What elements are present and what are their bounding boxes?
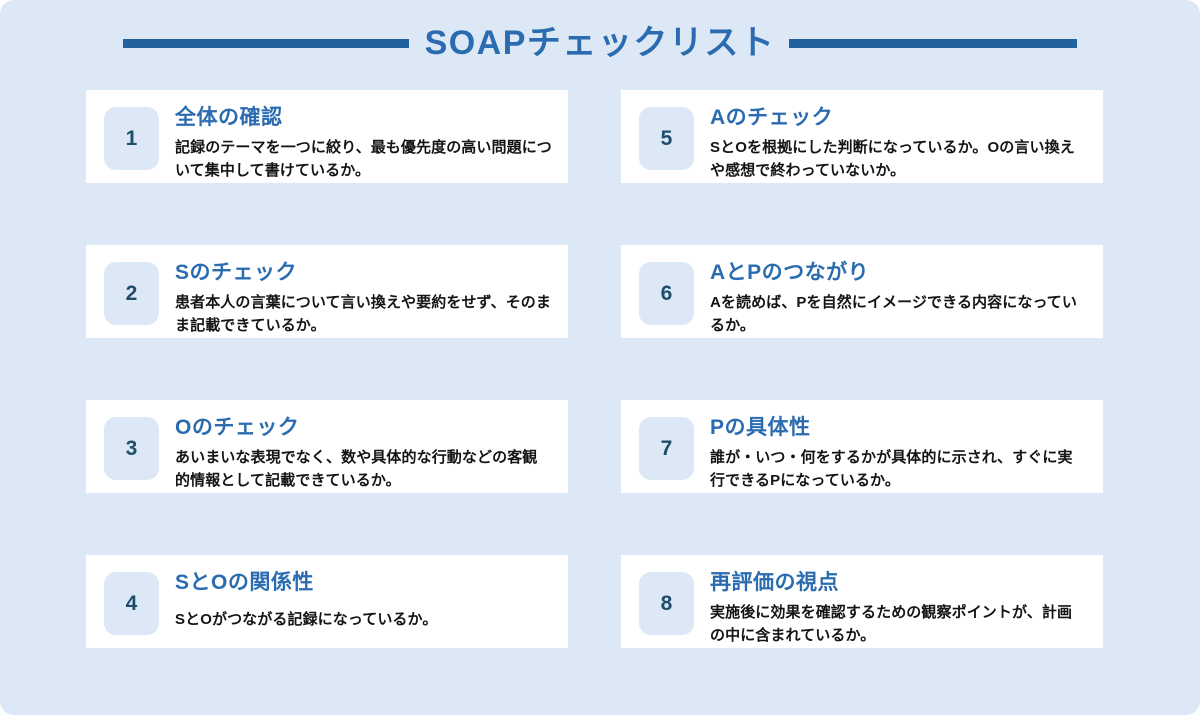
card-number-badge: 6 xyxy=(639,262,694,325)
checklist-card[interactable]: 1 全体の確認 記録のテーマを一つに絞り、最も優先度の高い問題について集中して書… xyxy=(86,90,568,183)
checklist-card[interactable]: 2 Sのチェック 患者本人の言葉について言い換えや要約をせず、そのまま記載できて… xyxy=(86,245,568,338)
checklist-card[interactable]: 4 SとOの関係性 SとOがつながる記録になっているか。 xyxy=(86,555,568,648)
card-description: SとOがつながる記録になっているか。 xyxy=(175,608,552,631)
card-title: SとOの関係性 xyxy=(175,570,552,595)
card-description: 患者本人の言葉について言い換えや要約をせず、そのまま記載できているか。 xyxy=(175,291,552,338)
card-title: Sのチェック xyxy=(175,260,552,285)
card-description: SとOを根拠にした判断になっているか。Oの言い換えや感想で終わっていないか。 xyxy=(710,136,1087,183)
card-number-badge: 7 xyxy=(639,417,694,480)
card-number-badge: 2 xyxy=(104,262,159,325)
card-description: 記録のテーマを一つに絞り、最も優先度の高い問題について集中して書けているか。 xyxy=(175,136,552,183)
title-rule-right xyxy=(789,39,1077,48)
title-rule-left xyxy=(123,39,409,48)
card-description: 実施後に効果を確認するための観察ポイントが、計画の中に含まれているか。 xyxy=(710,601,1087,648)
card-description: 誰が・いつ・何をするかが具体的に示され、すぐに実行できるPになっているか。 xyxy=(710,446,1087,493)
card-title: 全体の確認 xyxy=(175,105,552,130)
card-number-badge: 5 xyxy=(639,107,694,170)
card-body: Aのチェック SとOを根拠にした判断になっているか。Oの言い換えや感想で終わって… xyxy=(710,104,1087,183)
card-number-badge: 3 xyxy=(104,417,159,480)
card-body: Oのチェック あいまいな表現でなく、数や具体的な行動などの客観的情報として記載で… xyxy=(175,414,552,493)
checklist-card[interactable]: 6 AとPのつながり Aを読めば、Pを自然にイメージできる内容になっているか。 xyxy=(621,245,1103,338)
checklist-card[interactable]: 5 Aのチェック SとOを根拠にした判断になっているか。Oの言い換えや感想で終わ… xyxy=(621,90,1103,183)
card-title: Oのチェック xyxy=(175,415,552,440)
card-body: 再評価の視点 実施後に効果を確認するための観察ポイントが、計画の中に含まれている… xyxy=(710,569,1087,648)
card-body: Sのチェック 患者本人の言葉について言い換えや要約をせず、そのまま記載できている… xyxy=(175,259,552,338)
checklist-card[interactable]: 3 Oのチェック あいまいな表現でなく、数や具体的な行動などの客観的情報として記… xyxy=(86,400,568,493)
card-title: 再評価の視点 xyxy=(710,570,1087,595)
card-title: AとPのつながり xyxy=(710,260,1087,285)
page-header: SOAPチェックリスト xyxy=(0,0,1200,86)
checklist-card[interactable]: 8 再評価の視点 実施後に効果を確認するための観察ポイントが、計画の中に含まれて… xyxy=(621,555,1103,648)
checklist-grid: 1 全体の確認 記録のテーマを一つに絞り、最も優先度の高い問題について集中して書… xyxy=(86,90,1103,648)
card-number-badge: 4 xyxy=(104,572,159,635)
card-body: SとOの関係性 SとOがつながる記録になっているか。 xyxy=(175,569,552,631)
card-title: Aのチェック xyxy=(710,105,1087,130)
card-body: 全体の確認 記録のテーマを一つに絞り、最も優先度の高い問題について集中して書けて… xyxy=(175,104,552,183)
card-description: あいまいな表現でなく、数や具体的な行動などの客観的情報として記載できているか。 xyxy=(175,446,552,493)
page-title: SOAPチェックリスト xyxy=(425,26,776,60)
soap-checklist-page: SOAPチェックリスト 1 全体の確認 記録のテーマを一つに絞り、最も優先度の高… xyxy=(0,0,1200,715)
card-number-badge: 8 xyxy=(639,572,694,635)
card-body: AとPのつながり Aを読めば、Pを自然にイメージできる内容になっているか。 xyxy=(710,259,1087,338)
card-description: Aを読めば、Pを自然にイメージできる内容になっているか。 xyxy=(710,291,1087,338)
card-number-badge: 1 xyxy=(104,107,159,170)
card-body: Pの具体性 誰が・いつ・何をするかが具体的に示され、すぐに実行できるPになってい… xyxy=(710,414,1087,493)
checklist-card[interactable]: 7 Pの具体性 誰が・いつ・何をするかが具体的に示され、すぐに実行できるPになっ… xyxy=(621,400,1103,493)
card-title: Pの具体性 xyxy=(710,415,1087,440)
